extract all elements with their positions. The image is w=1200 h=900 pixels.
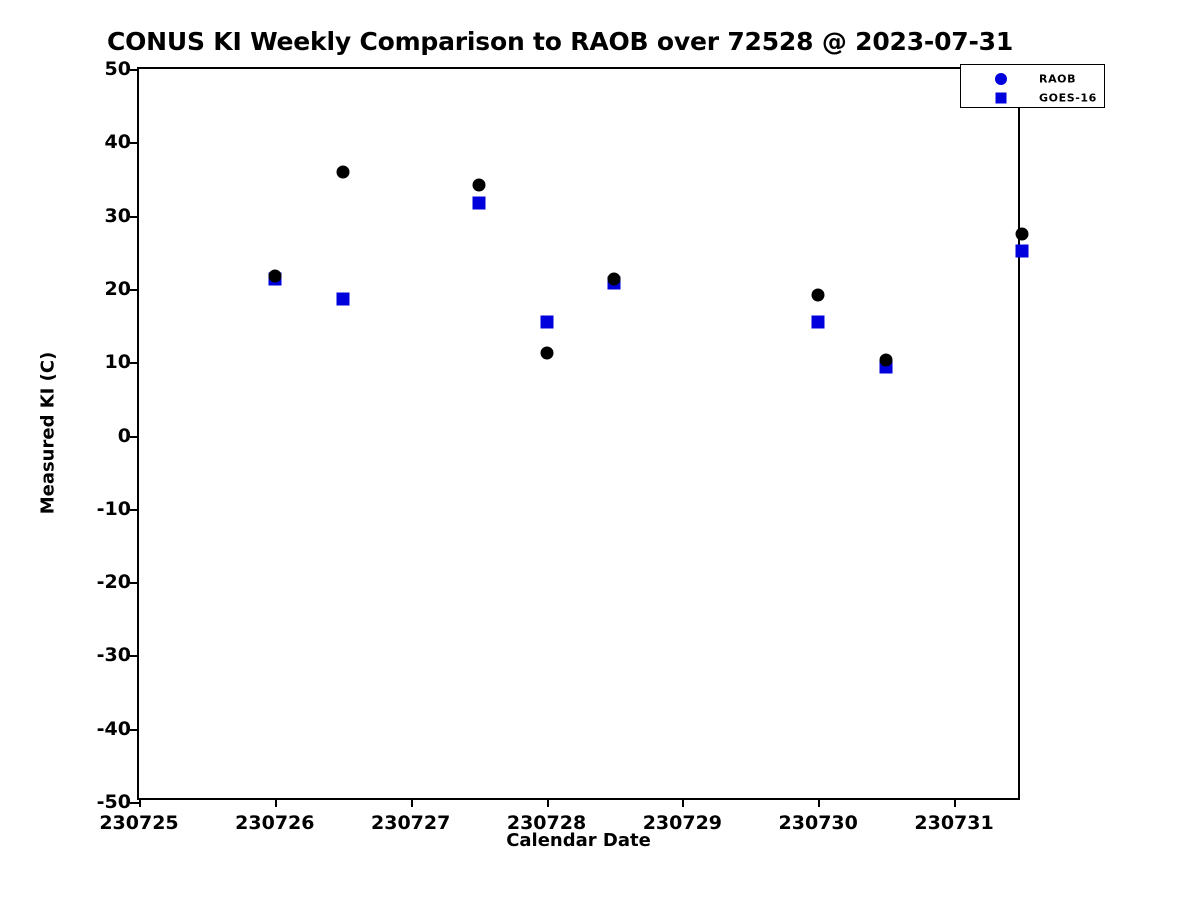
legend: RAOBGOES-16 xyxy=(960,64,1105,108)
legend-item-raob[interactable]: RAOB xyxy=(961,69,1104,89)
y-tick-label: 10 xyxy=(105,351,131,373)
data-points-layer xyxy=(139,69,1018,798)
legend-square-icon xyxy=(996,93,1007,104)
y-tick-label: 30 xyxy=(105,205,131,227)
data-point-raob xyxy=(1016,227,1029,240)
x-tick-mark xyxy=(411,798,413,807)
y-tick-mark xyxy=(130,655,139,657)
data-point-raob xyxy=(472,178,485,191)
data-point-raob xyxy=(812,288,825,301)
y-axis-label: Measured KI (C) xyxy=(38,352,59,515)
x-tick-mark xyxy=(682,798,684,807)
data-point-goes-16 xyxy=(472,197,485,210)
y-tick-label: -40 xyxy=(97,718,131,740)
plot-area: 50403020100-10-20-30-40-50 2307252307262… xyxy=(137,67,1020,800)
y-tick-mark xyxy=(130,509,139,511)
y-tick-mark xyxy=(130,69,139,71)
y-tick-mark xyxy=(130,802,139,804)
y-tick-label: 50 xyxy=(105,58,131,80)
y-tick-label: -50 xyxy=(97,791,131,813)
y-tick-mark xyxy=(130,729,139,731)
data-point-goes-16 xyxy=(1016,244,1029,257)
y-tick-mark xyxy=(130,582,139,584)
y-tick-label: 0 xyxy=(118,425,131,447)
y-tick-mark xyxy=(130,362,139,364)
x-tick-mark xyxy=(818,798,820,807)
data-point-goes-16 xyxy=(336,293,349,306)
y-tick-mark xyxy=(130,436,139,438)
chart-title: CONUS KI Weekly Comparison to RAOB over … xyxy=(0,27,1120,56)
x-tick-mark xyxy=(275,798,277,807)
data-point-raob xyxy=(880,354,893,367)
data-point-raob xyxy=(268,270,281,283)
y-tick-label: 20 xyxy=(105,278,131,300)
data-point-goes-16 xyxy=(540,315,553,328)
legend-label: RAOB xyxy=(1039,73,1076,86)
legend-circle-icon xyxy=(995,73,1007,85)
y-tick-label: -10 xyxy=(97,498,131,520)
y-tick-mark xyxy=(130,216,139,218)
y-tick-mark xyxy=(130,142,139,144)
y-tick-label: -30 xyxy=(97,644,131,666)
data-point-raob xyxy=(608,272,621,285)
chart-figure: CONUS KI Weekly Comparison to RAOB over … xyxy=(0,0,1200,900)
x-tick-mark xyxy=(954,798,956,807)
data-point-raob xyxy=(540,346,553,359)
legend-item-goes-16[interactable]: GOES-16 xyxy=(961,88,1104,108)
y-tick-label: -20 xyxy=(97,571,131,593)
x-tick-mark xyxy=(139,798,141,807)
x-tick-mark xyxy=(547,798,549,807)
y-tick-label: 40 xyxy=(105,131,131,153)
legend-label: GOES-16 xyxy=(1039,92,1097,105)
y-tick-mark xyxy=(130,289,139,291)
data-point-raob xyxy=(336,165,349,178)
data-point-goes-16 xyxy=(812,315,825,328)
x-axis-label: Calendar Date xyxy=(137,830,1020,851)
